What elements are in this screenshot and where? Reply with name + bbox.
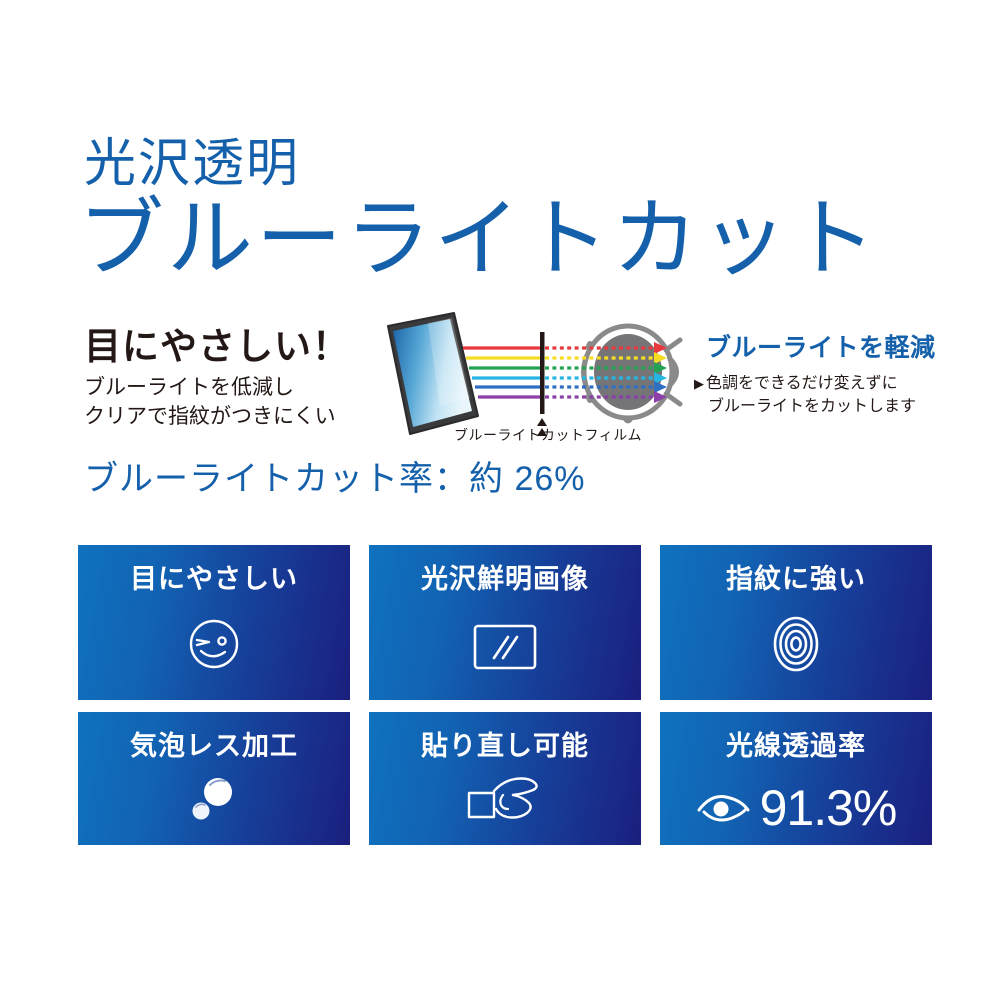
panel-title: 光線透過率 [660,733,932,760]
feature-panel-fingerprint-resistant[interactable]: 指紋に強い [660,545,932,700]
headline-title: ブルーライトカット [78,196,879,282]
transmittance-value: 91.3% [760,783,897,833]
feature-panel-eye-friendly[interactable]: 目にやさしい [78,545,350,700]
peeling-hand-icon [369,773,641,825]
eye-friendly-line-2: クリアで指紋がつきにくい [84,403,336,432]
reduce-line-1: 色調をできるだけ変えずに [706,375,898,392]
light-rays-before-film [463,348,541,397]
eye-friendly-heading: 目にやさしい！ [84,328,350,365]
product-feature-sheet: 光沢透明 ブルーライトカット 目にやさしい！ ブルーライトを低減し クリアで指紋… [0,0,1000,1000]
tablet-illustration [388,313,478,434]
reduce-blue-light-heading: ブルーライトを軽減 [706,336,936,361]
feature-panel-grid: 目にやさしい 光沢鮮明画像 指 [78,545,933,845]
headline-subtitle: 光沢透明 [84,138,300,190]
feature-panel-bubble-free[interactable]: 気泡レス加工 [78,712,350,845]
reduce-blue-light-description: ▶色調をできるだけ変えずに ブルーライトをカットします [694,372,916,418]
panel-title: 光沢鮮明画像 [369,566,641,593]
panel-title: 気泡レス加工 [78,733,350,760]
blue-light-diagram [366,306,696,446]
reduce-line-2: ブルーライトをカットします [694,395,916,418]
feature-panel-repositionable[interactable]: 貼り直し可能 [369,712,641,845]
glossy-screen-icon [369,620,641,674]
feature-panel-light-transmittance[interactable]: 光線透過率 91.3% [660,712,932,845]
panel-title: 貼り直し可能 [369,733,641,760]
panel-title: 指紋に強い [660,566,932,593]
feature-panel-glossy-image[interactable]: 光沢鮮明画像 [369,545,641,700]
transmittance-row: 91.3% [660,783,932,833]
blue-light-cut-rate: ブルーライトカット率：約 26% [84,462,586,496]
diagram-svg [366,306,696,446]
winking-face-icon [78,614,350,674]
film-caption: ブルーライトカットフィルム [454,428,642,442]
eye-cross-section-illustration [580,326,681,421]
fingerprint-icon [660,614,932,674]
bubbles-icon [78,773,350,825]
eye-friendly-description: ブルーライトを低減し クリアで指紋がつきにくい [84,374,336,432]
eye-icon [696,790,752,826]
cut-film-bar [540,332,545,414]
eye-friendly-line-1: ブルーライトを低減し [84,374,336,403]
panel-title: 目にやさしい [78,566,350,593]
